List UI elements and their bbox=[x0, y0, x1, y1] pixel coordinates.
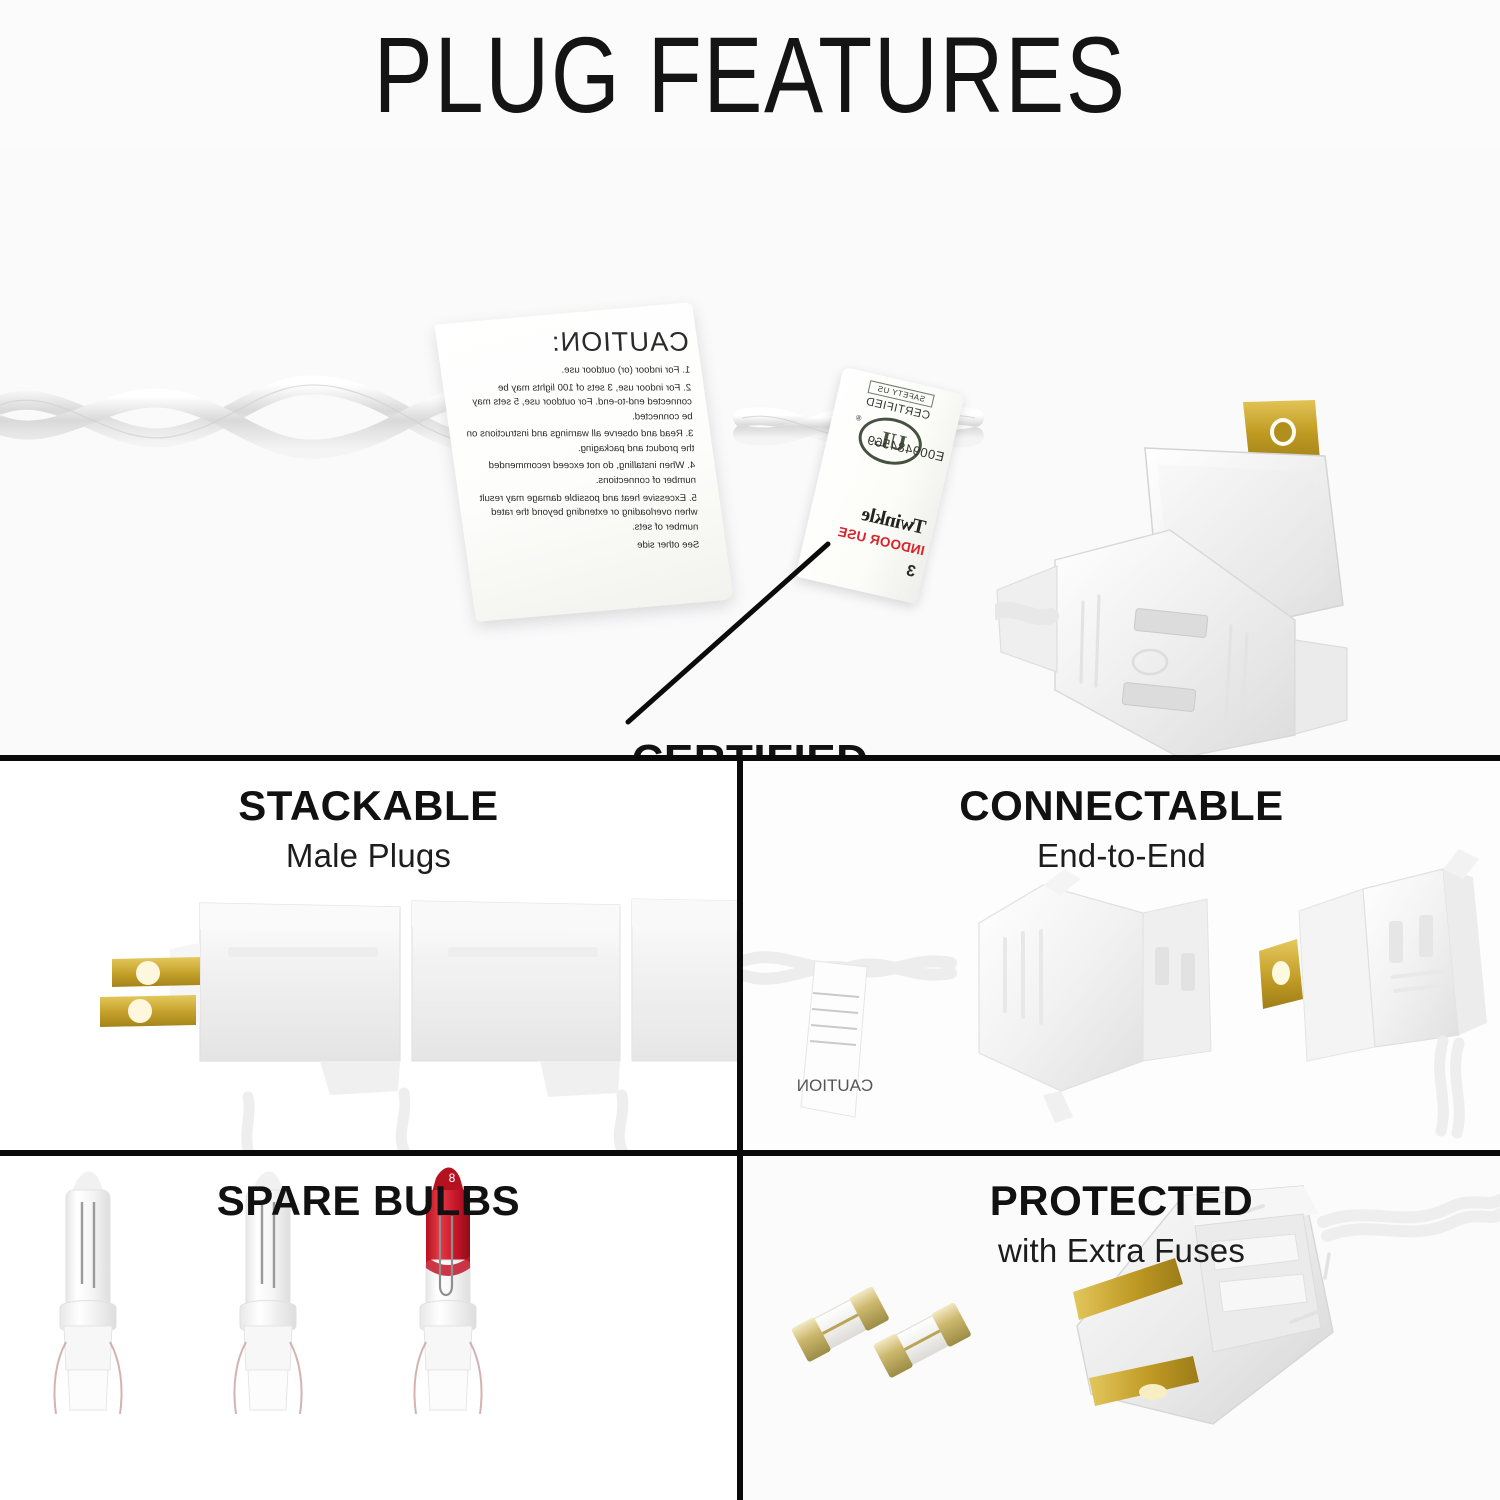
male-plug-1 bbox=[100, 903, 400, 1095]
stackable-heading: STACKABLE Male Plugs bbox=[0, 761, 737, 875]
svg-text:CAUTION: CAUTION bbox=[797, 1076, 874, 1095]
connectable-heading: CONNECTABLE End-to-End bbox=[743, 761, 1500, 875]
quadrant-protected: PROTECTED with Extra Fuses bbox=[743, 1156, 1500, 1500]
registered-trademark-icon: ® bbox=[855, 413, 863, 423]
hero-plug-photo bbox=[995, 390, 1365, 758]
quadrant-title: STACKABLE bbox=[0, 785, 737, 827]
quadrant-connectable: CAUTION bbox=[743, 761, 1500, 1150]
quadrant-stackable: STACKABLE Male Plugs bbox=[0, 761, 737, 1150]
caution-tag-inner: CAUTION: 1. For indoor (or) outdoor use.… bbox=[444, 313, 716, 551]
glass-fuse-2 bbox=[873, 1302, 972, 1379]
quadrant-subtitle: with Extra Fuses bbox=[743, 1232, 1500, 1270]
protected-heading: PROTECTED with Extra Fuses bbox=[743, 1156, 1500, 1270]
male-plug-2 bbox=[412, 901, 620, 1097]
caution-tag-heading: CAUTION: bbox=[461, 327, 690, 358]
quadrant-subtitle: Male Plugs bbox=[0, 837, 737, 875]
small-caution-tag: CAUTION bbox=[797, 961, 874, 1117]
quadrant-spare-bulbs: 8 SPARE BULBS bbox=[0, 1156, 737, 1500]
spare-bulbs-heading: SPARE BULBS bbox=[0, 1156, 737, 1232]
caution-line: 5. Excessive heat and possible damage ma… bbox=[469, 491, 699, 535]
quadrant-title: PROTECTED bbox=[743, 1180, 1500, 1222]
quadrant-title: CONNECTABLE bbox=[743, 785, 1500, 827]
caution-line: 4. When installing, do not exceed recomm… bbox=[468, 460, 697, 489]
caution-line: 1. For indoor (or) outdoor use. bbox=[463, 364, 691, 379]
quadrant-subtitle: End-to-End bbox=[743, 837, 1500, 875]
male-plug-3 bbox=[632, 899, 737, 1061]
plug-features-infographic: PLUG FEATURES bbox=[0, 0, 1500, 1500]
page-title: PLUG FEATURES bbox=[374, 21, 1127, 129]
caution-line: 3. Read and observe all warnings and ins… bbox=[466, 428, 695, 457]
caution-line: 2. For indoor use, 3 sets of 100 lights … bbox=[463, 381, 693, 425]
female-plug-connector bbox=[979, 869, 1211, 1123]
quadrant-title: SPARE BULBS bbox=[0, 1180, 737, 1222]
male-plug-connector bbox=[1259, 849, 1487, 1061]
caution-tag-body: 1. For indoor (or) outdoor use. 2. For i… bbox=[463, 364, 699, 535]
page-title-band: PLUG FEATURES bbox=[0, 0, 1500, 150]
glass-fuse-1 bbox=[791, 1286, 890, 1363]
hero-panel: CAUTION: 1. For indoor (or) outdoor use.… bbox=[0, 150, 1500, 758]
callout-leader-line bbox=[580, 540, 940, 758]
